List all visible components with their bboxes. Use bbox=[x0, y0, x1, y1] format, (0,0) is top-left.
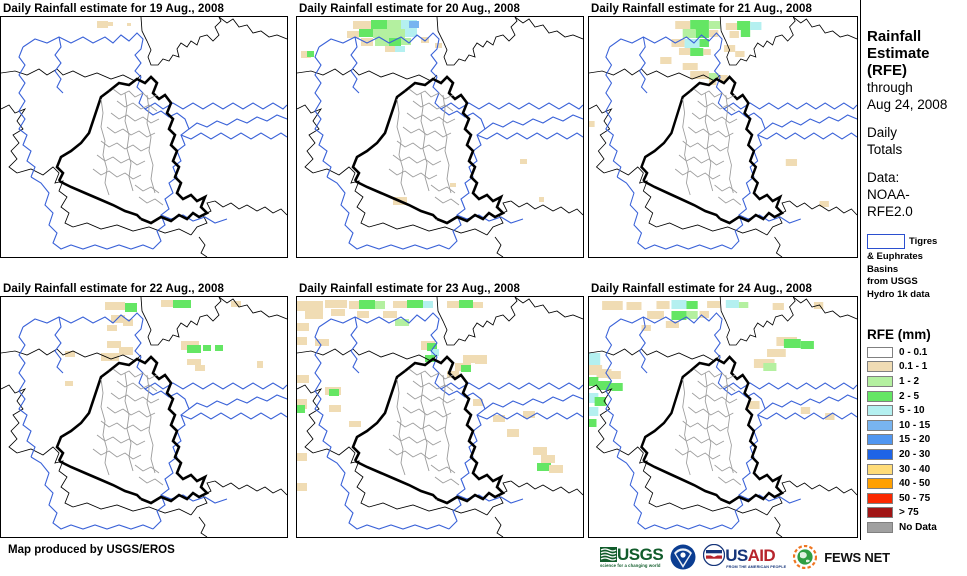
rfe-legend-label: 1 - 2 bbox=[893, 376, 919, 387]
rfe-legend-row: No Data bbox=[867, 520, 967, 535]
rfe-legend-swatch bbox=[867, 507, 893, 518]
basin-label-2: & Euphrates bbox=[867, 251, 967, 264]
panel-title: Daily Rainfall estimate for 22 Aug., 200… bbox=[0, 282, 288, 296]
map-canvas[interactable] bbox=[588, 16, 858, 258]
usgs-wordmark: USGS bbox=[617, 546, 663, 563]
rfe-legend-swatch bbox=[867, 361, 893, 372]
basin-label-4: from USGS bbox=[867, 276, 967, 289]
usgs-mark-icon bbox=[600, 547, 617, 562]
sidebar-title-line3: (RFE) bbox=[867, 62, 967, 79]
map-panel-22-aug: Daily Rainfall estimate for 22 Aug., 200… bbox=[0, 282, 288, 538]
map-graphic bbox=[589, 297, 857, 537]
province-boundaries bbox=[675, 89, 741, 205]
sidebar-data-line1: Data: bbox=[867, 169, 967, 186]
rfe-legend-row: 10 - 15 bbox=[867, 418, 967, 433]
rfe-legend-swatch bbox=[867, 391, 893, 402]
fews-net-wordmark: FEWS NET bbox=[824, 550, 890, 565]
usaid-tagline: FROM THE AMERICAN PEOPLE bbox=[703, 566, 786, 570]
panel-title: Daily Rainfall estimate for 24 Aug., 200… bbox=[588, 282, 860, 296]
map-panel-19-aug: Daily Rainfall estimate for 19 Aug., 200… bbox=[0, 2, 288, 258]
usaid-logo[interactable]: USAID FROM THE AMERICAN PEOPLE bbox=[703, 544, 786, 570]
map-graphic bbox=[1, 297, 287, 537]
iraq-boundary bbox=[57, 357, 207, 503]
rfe-legend-label: 20 - 30 bbox=[893, 449, 930, 460]
rfe-legend-label: 5 - 10 bbox=[893, 405, 925, 416]
rfe-map-page: Daily Rainfall estimate for 19 Aug., 200… bbox=[0, 0, 967, 576]
iraq-boundary bbox=[57, 77, 207, 223]
rain-cells bbox=[65, 300, 263, 386]
map-canvas[interactable] bbox=[0, 296, 288, 538]
usgs-logo[interactable]: USGS science for a changing world bbox=[600, 546, 663, 568]
map-panel-21-aug: Daily Rainfall estimate for 21 Aug., 200… bbox=[588, 2, 860, 258]
rfe-legend-row: 0.1 - 1 bbox=[867, 360, 967, 375]
rfe-legend-row: 0 - 0.1 bbox=[867, 345, 967, 360]
basin-swatch-icon bbox=[867, 234, 905, 249]
iraq-boundary bbox=[641, 77, 782, 223]
rfe-legend-swatch bbox=[867, 478, 893, 489]
rain-cells bbox=[97, 21, 131, 28]
map-credit: Map produced by USGS/EROS bbox=[8, 544, 175, 556]
sidebar-through: through bbox=[867, 79, 967, 96]
rfe-legend-row: > 75 bbox=[867, 506, 967, 521]
rfe-legend-label: 15 - 20 bbox=[893, 434, 930, 445]
rfe-legend-title: RFE (mm) bbox=[867, 327, 967, 342]
rfe-legend-row: 2 - 5 bbox=[867, 389, 967, 404]
basin-label-5: Hydro 1k data bbox=[867, 289, 967, 302]
rfe-legend-row: 15 - 20 bbox=[867, 433, 967, 448]
rfe-legend-row: 20 - 30 bbox=[867, 447, 967, 462]
sidebar-title-line1: Rainfall bbox=[867, 28, 967, 45]
rain-cells bbox=[589, 20, 829, 207]
usaid-seal-icon bbox=[703, 544, 725, 566]
basin-label-3: Basins bbox=[867, 264, 967, 277]
rfe-legend-label: 2 - 5 bbox=[893, 391, 919, 402]
rfe-legend-swatch bbox=[867, 522, 893, 533]
panel-title: Daily Rainfall estimate for 20 Aug., 200… bbox=[296, 2, 584, 16]
rfe-legend-row: 30 - 40 bbox=[867, 462, 967, 477]
sidebar-data-line2: NOAA- bbox=[867, 186, 967, 203]
rfe-legend-row: 5 - 10 bbox=[867, 403, 967, 418]
rfe-legend-label: 40 - 50 bbox=[893, 478, 930, 489]
rfe-legend-label: No Data bbox=[893, 522, 937, 533]
rfe-legend-row: 1 - 2 bbox=[867, 374, 967, 389]
noaa-logo-icon[interactable] bbox=[670, 544, 696, 570]
rfe-legend-list: 0 - 0.10.1 - 11 - 22 - 55 - 1010 - 1515 … bbox=[867, 345, 967, 535]
map-graphic bbox=[297, 17, 583, 257]
rfe-legend-swatch bbox=[867, 449, 893, 460]
map-panel-23-aug: Daily Rainfall estimate for 23 Aug., 200… bbox=[296, 282, 584, 538]
rfe-legend-row: 40 - 50 bbox=[867, 476, 967, 491]
province-boundaries bbox=[93, 89, 163, 205]
iraq-boundary bbox=[353, 77, 503, 223]
rfe-legend-row: 50 - 75 bbox=[867, 491, 967, 506]
basin-label-1: Tigres bbox=[905, 236, 937, 248]
sidebar-through-date: Aug 24, 2008 bbox=[867, 96, 967, 113]
sidebar-data-line3: RFE2.0 bbox=[867, 203, 967, 220]
iraq-boundary bbox=[353, 357, 503, 503]
map-graphic bbox=[1, 17, 287, 257]
rfe-legend-swatch bbox=[867, 376, 893, 387]
province-boundaries bbox=[93, 369, 163, 485]
province-boundaries bbox=[389, 89, 459, 205]
panel-title: Daily Rainfall estimate for 19 Aug., 200… bbox=[0, 2, 288, 16]
panel-title: Daily Rainfall estimate for 21 Aug., 200… bbox=[588, 2, 860, 16]
rfe-legend-label: 50 - 75 bbox=[893, 493, 930, 504]
rfe-legend-label: 30 - 40 bbox=[893, 464, 930, 475]
rfe-legend-swatch bbox=[867, 464, 893, 475]
map-graphic bbox=[297, 297, 583, 537]
legend-sidebar: Rainfall Estimate (RFE) through Aug 24, … bbox=[860, 0, 967, 540]
agency-logos: USGS science for a changing world USAID … bbox=[600, 541, 890, 573]
rfe-legend-swatch bbox=[867, 405, 893, 416]
rfe-legend-label: 10 - 15 bbox=[893, 420, 930, 431]
map-graphic bbox=[589, 17, 857, 257]
sidebar-totals-line1: Daily bbox=[867, 124, 967, 141]
map-canvas[interactable] bbox=[588, 296, 858, 538]
rfe-legend-label: 0.1 - 1 bbox=[893, 361, 927, 372]
basin-legend-key: Tigres & Euphrates Basins from USGS Hydr… bbox=[867, 233, 967, 301]
usgs-tagline: science for a changing world bbox=[600, 564, 661, 568]
rfe-legend-label: 0 - 0.1 bbox=[893, 347, 927, 358]
map-panel-24-aug: Daily Rainfall estimate for 24 Aug., 200… bbox=[588, 282, 860, 538]
map-panel-20-aug: Daily Rainfall estimate for 20 Aug., 200… bbox=[296, 2, 584, 258]
usaid-wordmark: USAID bbox=[725, 547, 775, 564]
fews-net-globe-icon[interactable] bbox=[793, 545, 817, 569]
sidebar-totals-line2: Totals bbox=[867, 141, 967, 158]
panel-title: Daily Rainfall estimate for 23 Aug., 200… bbox=[296, 282, 584, 296]
rfe-legend-swatch bbox=[867, 420, 893, 431]
map-canvas[interactable] bbox=[0, 16, 288, 258]
iraq-boundary bbox=[641, 357, 782, 503]
rfe-legend-swatch bbox=[867, 493, 893, 504]
sidebar-title-line2: Estimate bbox=[867, 45, 967, 62]
province-boundaries bbox=[675, 369, 741, 485]
map-canvas[interactable] bbox=[296, 296, 584, 538]
province-boundaries bbox=[389, 369, 459, 485]
rfe-legend-swatch bbox=[867, 347, 893, 358]
rfe-legend-swatch bbox=[867, 434, 893, 445]
map-canvas[interactable] bbox=[296, 16, 584, 258]
rfe-legend-label: > 75 bbox=[893, 507, 919, 518]
